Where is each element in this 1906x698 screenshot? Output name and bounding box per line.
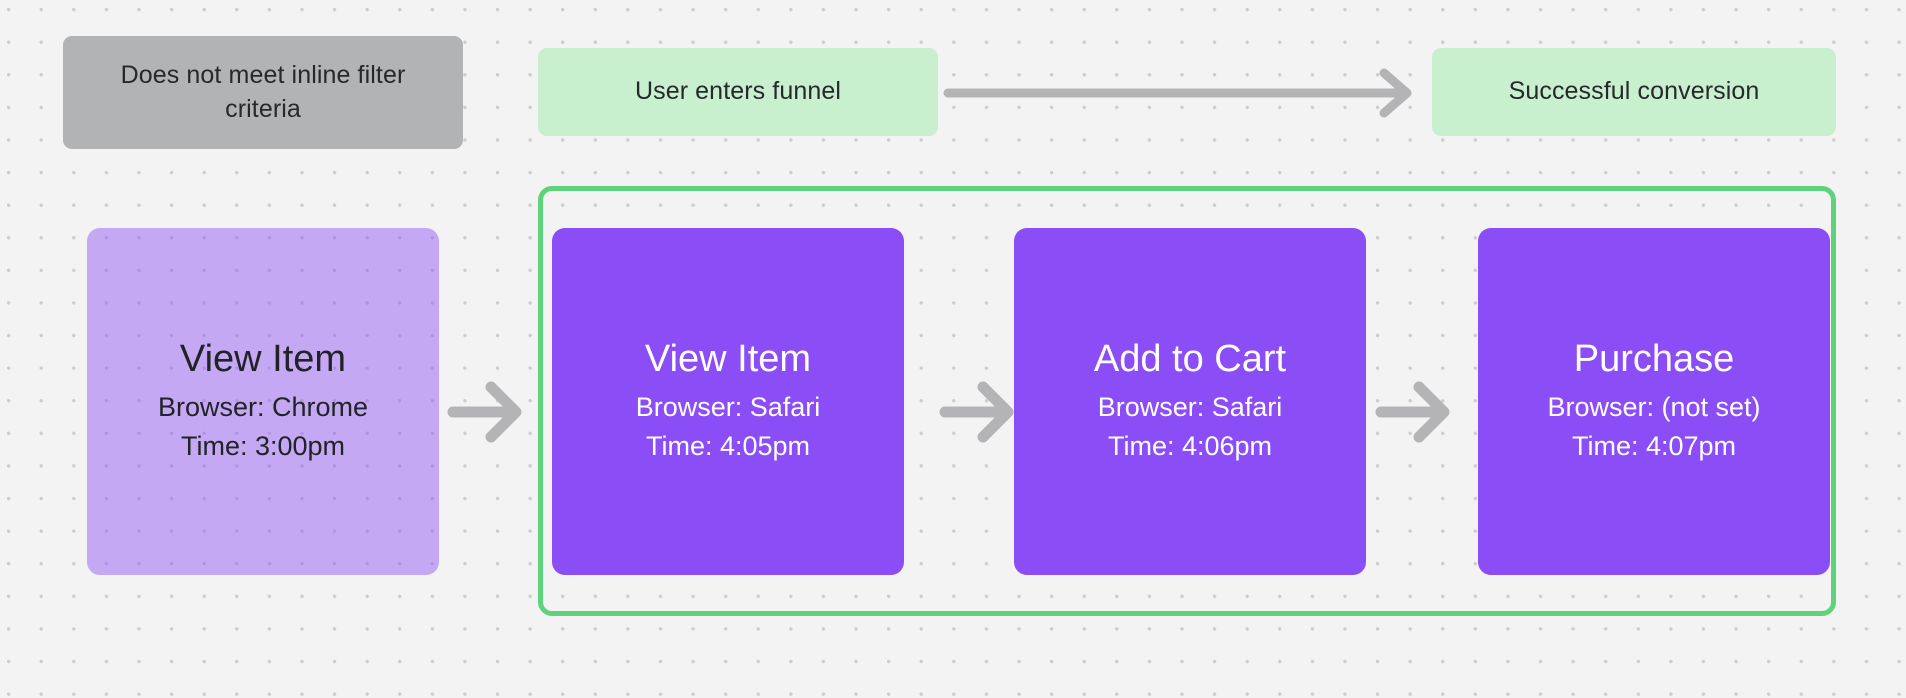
event-card-funnel-step-3[interactable]: Purchase Browser: (not set) Time: 4:07pm	[1478, 228, 1830, 575]
event-card-browser: Browser: (not set)	[1547, 388, 1760, 427]
legend-excluded-label: Does not meet inline filter criteria	[89, 59, 437, 127]
event-card-browser: Browser: Safari	[1098, 388, 1283, 427]
event-card-funnel-step-1[interactable]: View Item Browser: Safari Time: 4:05pm	[552, 228, 904, 575]
event-card-time: Time: 3:00pm	[181, 427, 345, 466]
event-card-title: Purchase	[1574, 337, 1735, 382]
event-card-title: Add to Cart	[1094, 337, 1286, 382]
event-card-time: Time: 4:07pm	[1572, 427, 1736, 466]
legend-chip-conversion: Successful conversion	[1432, 48, 1836, 136]
event-card-excluded[interactable]: View Item Browser: Chrome Time: 3:00pm	[87, 228, 439, 575]
event-card-title: View Item	[180, 337, 346, 382]
event-card-time: Time: 4:06pm	[1108, 427, 1272, 466]
legend-chip-excluded: Does not meet inline filter criteria	[63, 36, 463, 149]
event-card-browser: Browser: Chrome	[158, 388, 368, 427]
event-card-browser: Browser: Safari	[636, 388, 821, 427]
event-card-title: View Item	[645, 337, 811, 382]
legend-funnel-entry-label: User enters funnel	[635, 75, 841, 109]
event-card-time: Time: 4:05pm	[646, 427, 810, 466]
legend-chip-funnel-entry: User enters funnel	[538, 48, 938, 136]
legend-conversion-label: Successful conversion	[1509, 75, 1760, 109]
event-card-funnel-step-2[interactable]: Add to Cart Browser: Safari Time: 4:06pm	[1014, 228, 1366, 575]
